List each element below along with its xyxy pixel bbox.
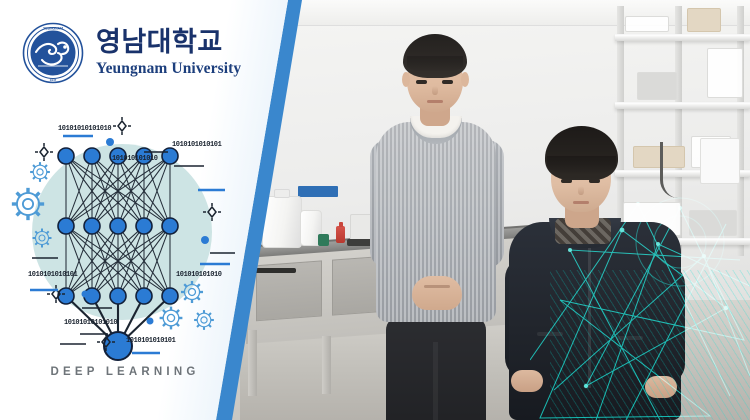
brand-text: 영남대학교 Yeungnam University [96,29,241,77]
svg-text:1010101010101: 1010101010101 [28,271,78,279]
brand-name-english: Yeungnam University [96,61,241,77]
clasped-hands [412,276,462,310]
shelf-bin [689,210,737,236]
svg-text:YEUNGNAM: YEUNGNAM [43,26,63,30]
svg-text:101010101010: 101010101010 [112,155,158,163]
shelf-box [707,48,743,98]
nose [432,86,438,95]
svg-text:1010101010101: 1010101010101 [172,141,222,149]
hair [545,126,618,180]
brand-panel: YEUNGNAM 1947 영남대학교 Yeungnam University [0,0,300,420]
brand-lockup: YEUNGNAM 1947 영남대학교 Yeungnam University [22,22,241,84]
wall-cabinet [700,138,740,184]
shelf-post [737,6,744,256]
ear [461,72,469,87]
svg-text:1947: 1947 [50,78,57,82]
green-vial [318,234,329,246]
ear [402,72,410,87]
mouth [573,201,589,204]
deep-learning-caption: DEEP LEARNING [0,366,250,378]
jacket-pocket [537,332,563,336]
nose [578,186,584,195]
hand [511,370,543,392]
jacket-pocket [617,336,643,340]
university-seal-icon: YEUNGNAM 1947 [22,22,84,84]
svg-text:101010101010: 101010101010 [176,271,222,279]
trousers [386,316,486,420]
shelf-box [637,72,677,100]
svg-text:1010101010101: 1010101010101 [126,337,176,345]
jacket-zipper [588,238,591,388]
mouth [427,100,443,103]
red-bottle [336,226,345,243]
shelf-box [687,8,721,32]
brand-name-korean: 영남대학교 [96,29,241,56]
hair [403,34,467,78]
hand [645,376,677,398]
bench-leg [322,336,331,394]
shelf [615,102,750,109]
shelf [615,34,750,41]
shelf-box [625,16,669,32]
eye [442,80,453,84]
seated-researcher [505,118,685,420]
svg-text:10101010101010: 10101010101010 [58,125,111,133]
standing-researcher [362,28,512,420]
eye [416,80,427,84]
wall-label [298,186,338,197]
screenshot-root: YEUNGNAM 1947 영남대학교 Yeungnam University [0,0,750,420]
deep-learning-network-diagram: 10101010101010 1010101010101 10101010101… [0,104,268,364]
svg-text:10101010101010: 10101010101010 [64,319,117,327]
